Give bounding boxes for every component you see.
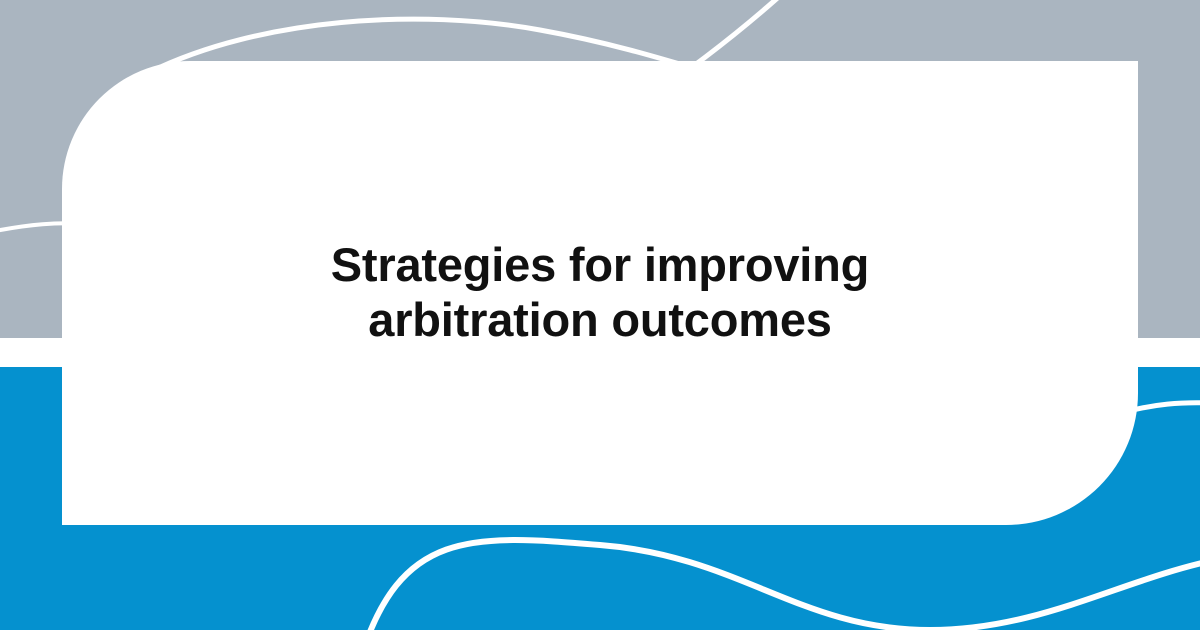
content-card: Strategies for improving arbitration out… (62, 61, 1138, 525)
share-card-canvas: Strategies for improving arbitration out… (0, 0, 1200, 630)
content-card-inner: Strategies for improving arbitration out… (62, 238, 1138, 348)
page-title: Strategies for improving arbitration out… (280, 238, 920, 348)
